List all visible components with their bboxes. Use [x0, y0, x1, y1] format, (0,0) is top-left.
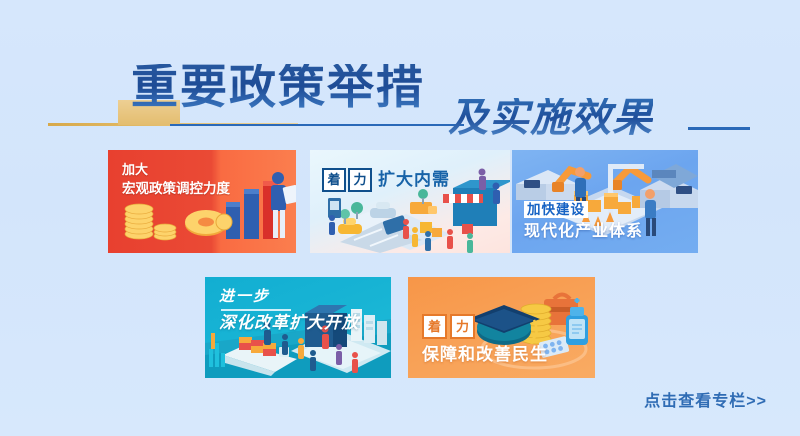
- card-deepen-reform-rule: [221, 309, 291, 311]
- title-blue-rule: [688, 127, 750, 130]
- card-expand-demand-boxed: 着力: [322, 168, 374, 192]
- card-expand-demand-caption: 着力 扩大内需: [322, 168, 450, 192]
- boxed-char-2: 力: [348, 168, 372, 192]
- card-macro-policy[interactable]: 加大 宏观政策调控力度: [108, 150, 296, 253]
- card-macro-policy-line1: 加大: [122, 163, 230, 178]
- expand-demand-illustration: [310, 150, 510, 253]
- card-livelihood-boxed: 着力: [422, 314, 548, 339]
- card-modern-industry-line1: 加快建设: [524, 201, 588, 218]
- card-modern-industry[interactable]: 加快建设 现代化产业体系: [512, 150, 698, 253]
- card-modern-industry-line2: 现代化产业体系: [524, 223, 643, 241]
- card-livelihood-line2: 保障和改善民生: [422, 345, 548, 364]
- card-macro-policy-caption: 加大 宏观政策调控力度: [122, 163, 230, 196]
- card-deepen-reform[interactable]: 进一步 深化改革扩大开放: [205, 277, 391, 378]
- card-modern-industry-caption: 加快建设 现代化产业体系: [524, 201, 643, 241]
- card-expand-demand-line2: 扩大内需: [378, 170, 450, 189]
- card-deepen-reform-line1: 进一步: [219, 289, 359, 306]
- page-title: 重要政策举措: [131, 64, 425, 111]
- card-livelihood-caption: 着力 保障和改善民生: [422, 314, 548, 364]
- title-underline: [170, 124, 464, 126]
- card-livelihood[interactable]: 着力 保障和改善民生: [408, 277, 595, 378]
- boxed-char-2: 力: [450, 314, 475, 339]
- boxed-char-1: 着: [422, 314, 447, 339]
- page-subtitle: 及实施效果: [448, 98, 653, 138]
- card-deepen-reform-line2: 深化改革扩大开放: [219, 314, 359, 332]
- boxed-char-1: 着: [322, 168, 346, 192]
- page-root: 重要政策举措 及实施效果: [0, 0, 800, 436]
- view-column-link[interactable]: 点击查看专栏>>: [644, 387, 767, 411]
- card-expand-domestic-demand[interactable]: 着力 扩大内需: [310, 150, 510, 253]
- page-title-block: 重要政策举措 及实施效果: [0, 28, 800, 133]
- card-deepen-reform-caption: 进一步 深化改革扩大开放: [219, 289, 359, 332]
- card-macro-policy-line2: 宏观政策调控力度: [122, 181, 230, 196]
